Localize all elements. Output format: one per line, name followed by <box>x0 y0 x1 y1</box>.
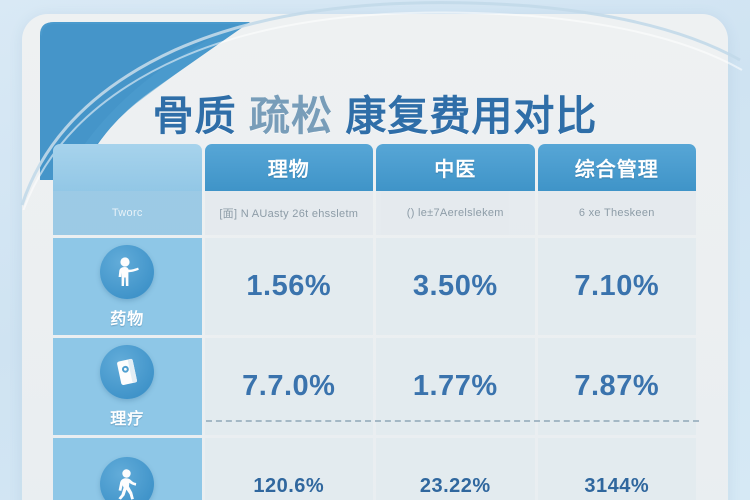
cell-r3c1: 120.6% <box>205 438 373 500</box>
comparison-table: 理物 中医 综合管理 Tworc [面] N AUasty 26t ehssle… <box>53 144 699 500</box>
header-col-tcm[interactable]: 中医 <box>376 144 535 191</box>
row-label-physiotherapy[interactable]: 理疗 <box>53 338 202 435</box>
cell-r1c1: 1.56% <box>205 238 373 335</box>
walking-person-icon <box>100 457 154 500</box>
cell-r3c3: 3144% <box>538 438 697 500</box>
subheader-col-2: () le±7Aerelslekem <box>376 191 535 235</box>
table-subheader-row: Tworc [面] N AUasty 26t ehssletm () le±7A… <box>53 191 699 235</box>
row-label-medication[interactable]: 药物 <box>53 238 202 335</box>
book-icon <box>100 345 154 399</box>
cell-r3c2: 23.22% <box>376 438 535 500</box>
subheader-col-1: [面] N AUasty 26t ehssletm <box>205 191 373 235</box>
header-corner-cell <box>53 144 202 191</box>
title-part-2: 康复费用对比 <box>345 93 597 139</box>
person-icon <box>100 245 154 299</box>
poster-root: 骨质 疏松 康复费用对比 理物 中医 综合管理 Tworc [面] N AUas… <box>0 0 750 500</box>
title-part-1: 骨质 <box>153 93 237 139</box>
subheader-corner-cell: Tworc <box>53 191 202 235</box>
row-label-exercise[interactable] <box>53 438 202 500</box>
header-col-comprehensive[interactable]: 综合管理 <box>538 144 697 191</box>
table-header-row: 理物 中医 综合管理 <box>53 144 699 191</box>
row-label-text: 药物 <box>110 305 144 329</box>
cell-r1c3: 7.10% <box>538 238 697 335</box>
header-col-physio[interactable]: 理物 <box>205 144 373 191</box>
row-label-text: 理疗 <box>110 405 144 429</box>
table-row: 120.6% 23.22% 3144% <box>53 435 699 500</box>
page-title: 骨质 疏松 康复费用对比 <box>0 82 750 142</box>
subheader-col-3: 6 xe Theskeen <box>538 191 697 235</box>
title-part-ghost: 疏松 <box>249 93 333 139</box>
cell-r1c2: 3.50% <box>376 238 535 335</box>
row-divider-dashed <box>206 420 699 422</box>
table-row: 药物 1.56% 3.50% 7.10% <box>53 235 699 335</box>
